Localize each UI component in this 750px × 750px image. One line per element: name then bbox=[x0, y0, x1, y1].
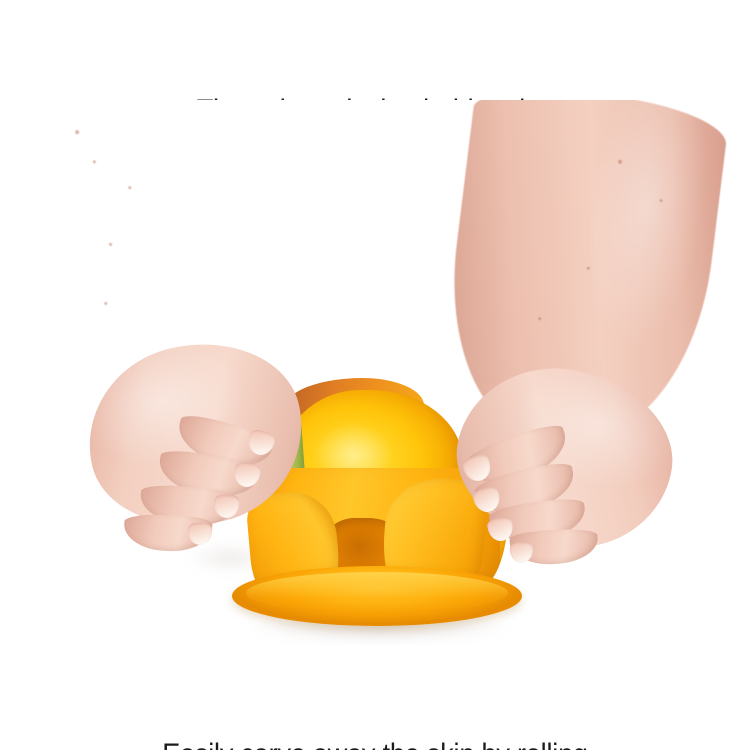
product-photo bbox=[0, 100, 750, 645]
skin-speck bbox=[104, 302, 107, 305]
holder-base-rim bbox=[246, 572, 508, 614]
skin-speck bbox=[75, 130, 79, 134]
skin-speck bbox=[109, 243, 112, 246]
skin-speck bbox=[618, 160, 622, 164]
skin-speck bbox=[128, 186, 131, 189]
hand-right bbox=[432, 370, 672, 575]
skin-speck bbox=[659, 199, 662, 202]
skin-speck bbox=[93, 160, 96, 163]
hand-left bbox=[88, 345, 318, 560]
caption-bottom-line-1: Easily carve away the skin by rolling bbox=[38, 736, 713, 750]
skin-speck bbox=[538, 317, 541, 320]
skin-speck bbox=[587, 267, 590, 270]
product-instruction-image: The unique design holder also acts as a … bbox=[0, 0, 750, 750]
caption-bottom: Easily carve away the skin by rolling th… bbox=[38, 662, 713, 750]
